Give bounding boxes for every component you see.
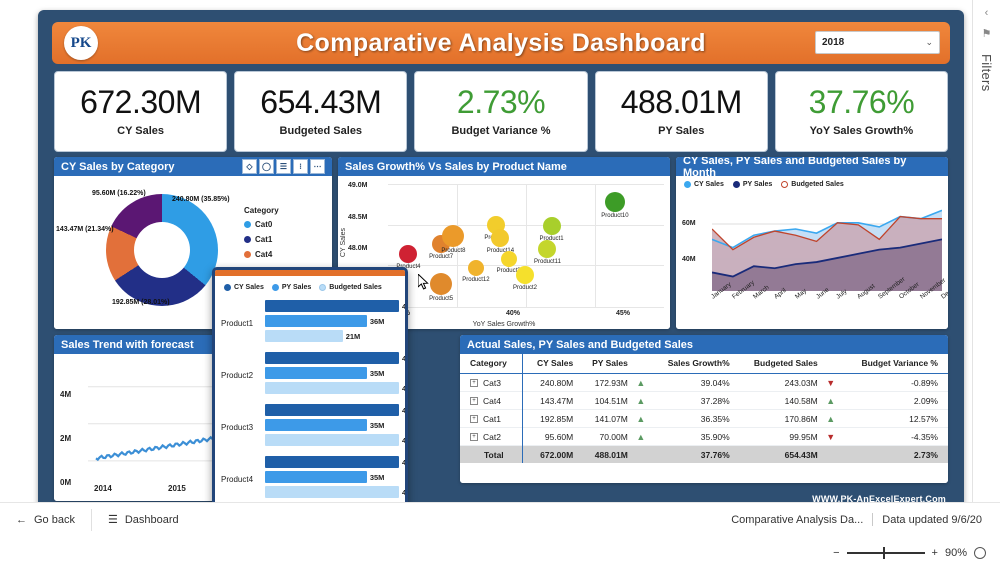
scatter-point[interactable]	[543, 217, 561, 235]
tooltip-category-label: Product4	[221, 475, 265, 484]
tooltip-bar[interactable]	[265, 352, 399, 364]
go-back-label: Go back	[34, 514, 75, 526]
mouse-cursor-icon	[418, 274, 430, 290]
variance-indicator-icon: ▲	[823, 410, 839, 428]
table-row[interactable]: +Cat1192.85M141.07M▲36.35%170.86M▲12.57%	[460, 410, 948, 428]
kpi-label: CY Sales	[117, 125, 164, 137]
cell-budget-variance: -4.35%	[839, 428, 948, 446]
cell-category[interactable]: +Cat4	[460, 392, 522, 410]
tooltip-legend: CY Sales PY Sales Budgeted Sales	[215, 276, 405, 295]
matrix-table[interactable]: Category CY Sales PY Sales Sales Growth%…	[460, 354, 948, 463]
legend-label: PY Sales	[743, 181, 772, 188]
zoom-level-label: 90%	[945, 547, 967, 559]
kpi-card-py-sales[interactable]: 488.01M PY Sales	[595, 71, 768, 152]
cell-total-budget: 654.43M	[735, 446, 823, 464]
focus-icon[interactable]: ◯	[259, 159, 274, 174]
cell-category[interactable]: +Cat1	[460, 410, 522, 428]
scatter-y-axis-title: CY Sales	[340, 228, 347, 257]
report-name[interactable]: Comparative Analysis Da...	[731, 514, 863, 526]
gridline	[595, 184, 596, 307]
tooltip-category-label: Product3	[221, 423, 265, 432]
tooltip-bar[interactable]	[265, 404, 399, 416]
visual-header: Sales Growth% Vs Sales by Product Name	[338, 157, 670, 176]
tooltip-bar-label: 40M	[402, 354, 408, 363]
zoom-in-button[interactable]: +	[932, 547, 938, 559]
legend-label: Budgeted Sales	[329, 284, 382, 291]
cell-cy-sales: 95.60M	[522, 428, 578, 446]
tooltip-bar-label: 40M	[402, 436, 408, 445]
kpi-value: 2.73%	[457, 86, 545, 118]
scatter-point[interactable]	[399, 245, 417, 263]
scatter-point[interactable]	[468, 260, 484, 276]
donut-label-cat1: 192.85M (28.01%)	[112, 299, 170, 308]
legend-swatch	[244, 236, 251, 243]
chevron-down-icon[interactable]: ⌄	[925, 37, 933, 48]
kpi-label: Budget Variance %	[451, 125, 550, 137]
fit-to-page-icon[interactable]	[974, 547, 986, 559]
table-header-row: Category CY Sales PY Sales Sales Growth%…	[460, 354, 948, 374]
tooltip-bars: 40M35M40M	[265, 404, 399, 450]
growth-indicator-icon: ▲	[633, 392, 649, 410]
cell-budgeted-sales: 140.58M	[735, 392, 823, 410]
col-sales-growth[interactable]: Sales Growth%	[649, 354, 735, 374]
col-category[interactable]: Category	[460, 354, 522, 374]
cell-sales-growth: 37.28%	[649, 392, 735, 410]
scatter-ytick-2: 48.0M	[348, 245, 367, 252]
variance-indicator-icon: ▼	[823, 428, 839, 446]
cell-category[interactable]: +Cat3	[460, 374, 522, 392]
cell-total-label: Total	[460, 446, 522, 464]
dashboard-header: PK Comparative Analysis Dashboard 2018 ⌄	[52, 22, 950, 64]
dashboard-button[interactable]: ☰ Dashboard	[92, 503, 195, 537]
cell-total-cy: 672.00M	[522, 446, 578, 464]
legend-label: Cat0	[255, 220, 272, 229]
legend-title: Category	[244, 206, 279, 215]
tooltip-bar-label: 35M	[370, 473, 385, 482]
scatter-point-label: Product2	[513, 285, 537, 291]
gridline	[388, 225, 664, 226]
tooltip-bars: 40M35M40M	[265, 456, 399, 502]
tooltip-category-label: Product1	[221, 319, 265, 328]
go-back-button[interactable]: ← Go back	[0, 503, 91, 537]
tooltip-bar[interactable]	[265, 419, 367, 431]
cell-budgeted-sales: 170.86M	[735, 410, 823, 428]
tooltip-bar-label: 35M	[370, 369, 385, 378]
year-slicer-value: 2018	[822, 37, 844, 48]
kpi-label: YoY Sales Growth%	[810, 125, 914, 137]
visual-title: Sales Trend with forecast	[61, 339, 194, 351]
cell-total-growth: 37.76%	[649, 446, 735, 464]
cell-category[interactable]: +Cat2	[460, 428, 522, 446]
donut-hole	[134, 222, 190, 278]
visual-title: CY Sales by Category	[61, 161, 175, 173]
tooltip-bar-label: 40M	[402, 406, 408, 415]
cell-sales-growth: 39.04%	[649, 374, 735, 392]
scatter-point[interactable]	[491, 229, 509, 247]
kpi-value: 37.76%	[809, 86, 915, 118]
visual-header-icons: ◇ ◯ ☰ ⁝ ⋯	[242, 159, 325, 174]
tooltip-bar[interactable]	[265, 486, 399, 498]
legend-item-cat1[interactable]: Cat1	[244, 235, 279, 244]
zoom-thumb[interactable]	[883, 547, 886, 559]
table-row[interactable]: +Cat295.60M70.00M▲35.90%99.95M▼-4.35%	[460, 428, 948, 446]
tooltip-bar-label: 40M	[402, 458, 408, 467]
kpi-label: PY Sales	[658, 125, 704, 137]
table-icon[interactable]: ⁝	[293, 159, 308, 174]
legend-item-cy-sales[interactable]: CY Sales	[224, 284, 264, 291]
menu-icon: ☰	[108, 513, 118, 526]
legend-label: CY Sales	[694, 181, 724, 188]
col-budget-variance[interactable]: Budget Variance %	[839, 354, 948, 374]
tooltip-bar-groups: Product143M36M21MProduct240M35M40MProduc…	[215, 299, 405, 503]
area-chart-svg	[712, 198, 942, 291]
tooltip-bars: 43M36M21M	[265, 300, 399, 346]
zoom-bar: − + 90%	[0, 536, 1000, 570]
legend-label: CY Sales	[234, 284, 264, 291]
tooltip-bar[interactable]	[265, 330, 343, 342]
tooltip-bar[interactable]	[265, 382, 399, 394]
scatter-point-label: Product1	[540, 236, 564, 242]
scatter-point[interactable]	[605, 192, 625, 212]
visual-title: Actual Sales, PY Sales and Budgeted Sale…	[467, 339, 693, 351]
table-head: Category CY Sales PY Sales Sales Growth%…	[460, 354, 948, 374]
gridline	[388, 307, 664, 308]
scatter-point-label: Product8	[441, 248, 465, 254]
kpi-card-row: 672.30M CY Sales 654.43M Budgeted Sales …	[54, 71, 948, 152]
kpi-label: Budgeted Sales	[280, 125, 363, 137]
canvas-inner: PK Comparative Analysis Dashboard 2018 ⌄…	[42, 14, 960, 508]
legend-swatch	[244, 251, 251, 258]
report-canvas: PK Comparative Analysis Dashboard 2018 ⌄…	[38, 10, 964, 512]
tooltip-product-group: Product340M35M40M	[221, 403, 399, 451]
dashboard-label: Dashboard	[125, 514, 179, 526]
scatter-point[interactable]	[516, 266, 534, 284]
visual-header: CY Sales, PY Sales and Budgeted Sales by…	[676, 157, 948, 176]
legend-item-cat4[interactable]: Cat4	[244, 250, 279, 259]
col-cy-sales[interactable]: CY Sales	[522, 354, 578, 374]
zoom-slider[interactable]	[847, 547, 925, 559]
donut-label-cat2: 95.60M (16.22%)	[92, 190, 146, 199]
variance-indicator-icon: ▼	[823, 374, 839, 392]
tooltip-bar[interactable]	[265, 471, 367, 483]
area-ytick-1: 40M	[682, 256, 696, 263]
visual-title: Sales Growth% Vs Sales by Product Name	[345, 161, 567, 173]
scatter-point-label: Product10	[601, 213, 628, 219]
growth-indicator-icon: ▲	[633, 410, 649, 428]
scatter-xtick-2: 45%	[616, 310, 630, 317]
powerbi-report-view: ‹ ⚑ Filters PK Comparative Analysis Dash…	[0, 0, 1000, 570]
tooltip-bar-label: 36M	[370, 317, 385, 326]
legend-label: Cat4	[255, 250, 272, 259]
cell-total-py: 488.01M	[578, 446, 633, 464]
scatter-point-label: Product7	[429, 254, 453, 260]
report-status-bar: ← Go back ☰ Dashboard Comparative Analys…	[0, 502, 1000, 536]
tooltip-bar-label: 21M	[346, 332, 361, 341]
trend-xtick-1: 2015	[168, 484, 186, 493]
legend-swatch	[684, 181, 691, 188]
col-spacer-2	[823, 354, 839, 374]
donut-label-cat4: 143.47M (21.34%)	[56, 226, 114, 235]
tooltip-bar-label: 43M	[402, 302, 408, 311]
cell-py-sales: 104.51M	[578, 392, 633, 410]
status-right-group: Comparative Analysis Da... Data updated …	[731, 513, 1000, 526]
scatter-point-label: Product11	[534, 259, 561, 265]
cell-budgeted-sales: 99.95M	[735, 428, 823, 446]
scatter-point[interactable]	[501, 251, 517, 267]
tooltip-bar-label: 40M	[402, 384, 408, 393]
variance-indicator-icon: ▲	[823, 392, 839, 410]
legend-label: Cat1	[255, 235, 272, 244]
table-row[interactable]: +Cat3240.80M172.93M▲39.04%243.03M▼-0.89%	[460, 374, 948, 392]
tooltip-bar-label: 35M	[370, 421, 385, 430]
cell-budgeted-sales: 243.03M	[735, 374, 823, 392]
tooltip-card-product-sales[interactable]: CY Sales PY Sales Budgeted Sales Product…	[212, 267, 408, 540]
tooltip-bar[interactable]	[265, 434, 399, 446]
table-row[interactable]: +Cat4143.47M104.51M▲37.28%140.58M▲2.09%	[460, 392, 948, 410]
legend-item-py-sales[interactable]: PY Sales	[272, 284, 311, 291]
filters-pane-collapsed[interactable]: ‹ ⚑ Filters	[972, 0, 1000, 518]
cell-sales-growth: 36.35%	[649, 410, 735, 428]
table-body-rows: +Cat3240.80M172.93M▲39.04%243.03M▼-0.89%…	[460, 374, 948, 464]
kpi-card-budget-variance[interactable]: 2.73% Budget Variance %	[414, 71, 587, 152]
area-legend: CY Sales PY Sales Budgeted Sales	[684, 181, 844, 188]
legend-item-budgeted-sales[interactable]: Budgeted Sales	[781, 181, 844, 188]
cell-py-sales: 70.00M	[578, 428, 633, 446]
tooltip-bars: 40M35M40M	[265, 352, 399, 398]
legend-swatch	[244, 221, 251, 228]
expand-icon[interactable]: +	[470, 379, 478, 387]
legend-item-budgeted-sales[interactable]: Budgeted Sales	[319, 284, 382, 291]
expand-icon[interactable]: +	[470, 415, 478, 423]
col-budgeted-sales[interactable]: Budgeted Sales	[735, 354, 823, 374]
filters-label: Filters	[979, 54, 994, 92]
tooltip-bar[interactable]	[265, 315, 367, 327]
more-icon[interactable]: ⋯	[310, 159, 325, 174]
donut-chart[interactable]	[106, 194, 218, 306]
scatter-point-label: Product12	[462, 277, 489, 283]
tooltip-bar[interactable]	[265, 367, 367, 379]
cell-py-sales: 172.93M	[578, 374, 633, 392]
filter-icon[interactable]: ⚑	[982, 29, 992, 40]
scatter-point[interactable]	[538, 240, 556, 258]
pin-icon[interactable]: ◇	[242, 159, 257, 174]
expand-icon[interactable]: +	[470, 397, 478, 405]
area-ytick-0: 60M	[682, 220, 696, 227]
cell-py-sales: 141.07M	[578, 410, 633, 428]
trend-xtick-0: 2014	[94, 484, 112, 493]
cell-cy-sales: 240.80M	[522, 374, 578, 392]
kpi-card-budgeted-sales[interactable]: 654.43M Budgeted Sales	[234, 71, 407, 152]
data-updated-label: Data updated 9/6/20	[882, 514, 982, 526]
donut-label-cat0: 240.80M (35.85%)	[172, 196, 230, 205]
filter-icon[interactable]: ☰	[276, 159, 291, 174]
growth-indicator-icon: ▲	[633, 374, 649, 392]
cell-cy-sales: 143.47M	[522, 392, 578, 410]
chevron-left-icon[interactable]: ‹	[985, 8, 989, 19]
tooltip-category-label: Product2	[221, 371, 265, 380]
divider	[872, 513, 873, 526]
cell-cy-sales: 192.85M	[522, 410, 578, 428]
trend-ytick-2: 0M	[60, 478, 71, 487]
tooltip-bar-label: 40M	[402, 488, 408, 497]
donut-legend: Category Cat0 Cat1 Cat4	[244, 206, 279, 265]
table-total-row: Total672.00M488.01M37.76%654.43M2.73%	[460, 446, 948, 464]
cell-total-spacer	[633, 446, 649, 464]
kpi-card-yoy-growth[interactable]: 37.76% YoY Sales Growth%	[775, 71, 948, 152]
cell-sales-growth: 35.90%	[649, 428, 735, 446]
trend-ytick-0: 4M	[60, 390, 71, 399]
cell-total-variance: 2.73%	[839, 446, 948, 464]
tooltip-product-group: Product440M35M40M	[221, 455, 399, 503]
tooltip-product-group: Product240M35M40M	[221, 351, 399, 399]
back-arrow-icon: ←	[16, 514, 27, 526]
area-plot-area[interactable]	[712, 198, 942, 291]
cell-total-spacer2	[823, 446, 839, 464]
scatter-point[interactable]	[442, 225, 464, 247]
cell-budget-variance: -0.89%	[839, 374, 948, 392]
zoom-out-button[interactable]: −	[833, 547, 839, 559]
trend-ytick-1: 2M	[60, 434, 71, 443]
expand-icon[interactable]: +	[470, 433, 478, 441]
kpi-value: 654.43M	[260, 86, 381, 118]
col-py-sales[interactable]: PY Sales	[578, 354, 633, 374]
tooltip-bar[interactable]	[265, 456, 399, 468]
kpi-card-cy-sales[interactable]: 672.30M CY Sales	[54, 71, 227, 152]
legend-swatch	[781, 181, 788, 188]
legend-swatch	[319, 284, 326, 291]
cell-budget-variance: 2.09%	[839, 392, 948, 410]
legend-swatch	[224, 284, 231, 291]
visual-header: Actual Sales, PY Sales and Budgeted Sale…	[460, 335, 948, 354]
legend-item-cat0[interactable]: Cat0	[244, 220, 279, 229]
legend-item-py-sales[interactable]: PY Sales	[733, 181, 772, 188]
legend-item-cy-sales[interactable]: CY Sales	[684, 181, 724, 188]
legend-swatch	[733, 181, 740, 188]
legend-label: Budgeted Sales	[791, 181, 844, 188]
table-body: Category CY Sales PY Sales Sales Growth%…	[460, 354, 948, 483]
kpi-value: 488.01M	[621, 86, 742, 118]
legend-label: PY Sales	[282, 284, 311, 291]
visual-sales-by-month[interactable]: CY Sales, PY Sales and Budgeted Sales by…	[676, 157, 948, 329]
col-spacer-1	[633, 354, 649, 374]
kpi-value: 672.30M	[80, 86, 201, 118]
scatter-point[interactable]	[430, 273, 452, 295]
scatter-ytick-0: 49.0M	[348, 182, 367, 189]
tooltip-product-group: Product143M36M21M	[221, 299, 399, 347]
gridline	[388, 184, 664, 185]
scatter-xtick-1: 40%	[506, 310, 520, 317]
visual-header: CY Sales by Category ◇ ◯ ☰ ⁝ ⋯	[54, 157, 332, 176]
tooltip-bar[interactable]	[265, 300, 399, 312]
scatter-ytick-1: 48.5M	[348, 214, 367, 221]
cell-budget-variance: 12.57%	[839, 410, 948, 428]
zoom-track	[847, 552, 925, 554]
growth-indicator-icon: ▲	[633, 428, 649, 446]
area-body: CY Sales PY Sales Budgeted Sales 60M 40M	[676, 176, 948, 329]
visual-actual-py-budgeted-table[interactable]: Actual Sales, PY Sales and Budgeted Sale…	[460, 335, 948, 483]
year-slicer[interactable]: 2018 ⌄	[815, 31, 940, 54]
legend-swatch	[272, 284, 279, 291]
scatter-point-label: Product5	[429, 296, 453, 302]
